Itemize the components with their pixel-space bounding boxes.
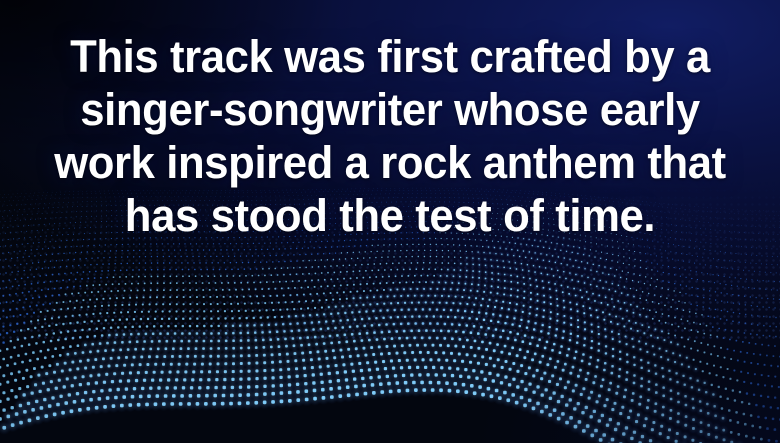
headline-line-2: singer-songwriter whose early	[29, 83, 751, 136]
headline-line-1: This track was first crafted by a	[29, 30, 751, 83]
headline-line-4: has stood the test of time.	[29, 189, 751, 242]
headline-text-block: This track was first crafted by a singer…	[0, 30, 780, 242]
fact-card: This track was first crafted by a singer…	[0, 0, 780, 443]
headline-line-3: work inspired a rock anthem that	[29, 136, 751, 189]
